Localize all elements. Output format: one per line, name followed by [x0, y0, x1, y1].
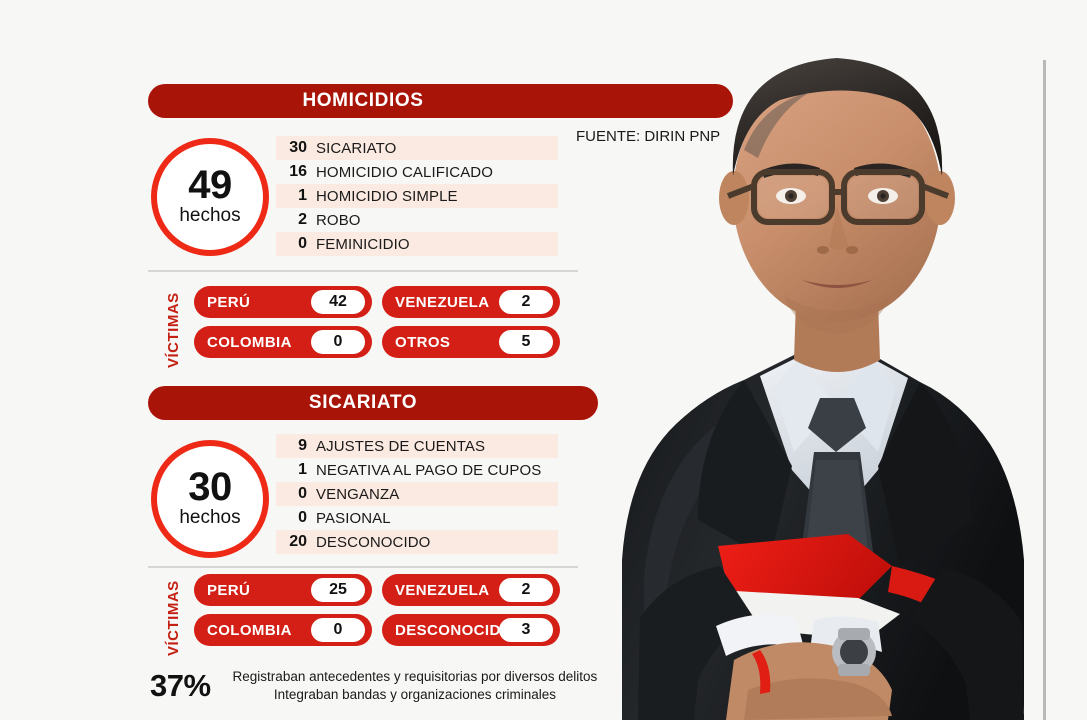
- nostril-left: [817, 246, 829, 254]
- victim-pill: PERÚ 42: [194, 286, 372, 318]
- breakdown-count: 9: [276, 437, 316, 455]
- footer-notes: Registraban antecedentes y requisitorias…: [233, 668, 598, 703]
- sash-tail-red: [888, 566, 1014, 706]
- presidential-sash-red: [718, 534, 892, 606]
- victim-country: VENEZUELA: [395, 582, 489, 599]
- necktie-knot: [808, 398, 866, 452]
- breakdown-row: 1 NEGATIVA AL PAGO DE CUPOS: [276, 458, 558, 482]
- breakdown-row: 20 DESCONOCIDO: [276, 530, 558, 554]
- section-divider: [148, 566, 578, 568]
- sash-medal: [972, 592, 1004, 624]
- infographic-root: HOMICIDIOS SICARIATO FUENTE: DIRIN PNP 4…: [0, 0, 1087, 720]
- breakdown-row: 1 HOMICIDIO SIMPLE: [276, 184, 558, 208]
- lens-left-glare: [758, 176, 828, 218]
- necktie-sheen: [806, 460, 868, 586]
- victims-label-text: VÍCTIMAS: [165, 580, 182, 656]
- victim-country: OTROS: [395, 334, 450, 351]
- footer-note-line: Integraban bandas y organizaciones crimi…: [233, 686, 598, 704]
- mouth: [802, 280, 872, 288]
- footer-percent: 37%: [150, 670, 211, 701]
- dress-shirt: [760, 356, 908, 520]
- breakdown-row: 9 AJUSTES DE CUENTAS: [276, 434, 558, 458]
- victim-pill: VENEZUELA 2: [382, 574, 560, 606]
- victim-count: 0: [311, 618, 365, 642]
- hand-lower: [744, 678, 892, 720]
- breakdown-count: 0: [276, 509, 316, 527]
- victim-country: COLOMBIA: [207, 622, 292, 639]
- breakdown-label: HOMICIDIO CALIFICADO: [316, 164, 493, 181]
- victim-pill: COLOMBIA 0: [194, 326, 372, 358]
- section-title-homicidios: HOMICIDIOS: [148, 84, 578, 118]
- victim-pill: PERÚ 25: [194, 574, 372, 606]
- victim-count: 2: [499, 290, 553, 314]
- arm-right: [910, 568, 1024, 720]
- breakdown-label: NEGATIVA AL PAGO DE CUPOS: [316, 462, 541, 479]
- victim-count: 2: [499, 578, 553, 602]
- breakdown-row: 16 HOMICIDIO CALIFICADO: [276, 160, 558, 184]
- arm-left: [638, 566, 754, 720]
- sash-tail-white: [992, 612, 1024, 716]
- section-header-bar-sicariato: SICARIATO: [148, 386, 598, 420]
- watch-band-top: [838, 628, 870, 640]
- victim-country: COLOMBIA: [207, 334, 292, 351]
- section-divider: [148, 270, 578, 272]
- nostril-right: [846, 246, 858, 254]
- face: [733, 70, 941, 322]
- breakdown-label: DESCONOCIDO: [316, 534, 430, 551]
- victim-pill: COLOMBIA 0: [194, 614, 372, 646]
- lapel-right: [878, 382, 972, 566]
- lens-right-glare: [848, 176, 918, 218]
- victim-country: PERÚ: [207, 294, 250, 311]
- shirt-cuff-left: [716, 614, 804, 656]
- victims-label-text: VÍCTIMAS: [165, 292, 182, 368]
- shirt-cuff-right: [810, 616, 882, 652]
- eye-right-sclera: [868, 188, 898, 204]
- victim-count: 25: [311, 578, 365, 602]
- eyebrow-right: [854, 163, 912, 178]
- victim-pill: DESCONOCIDO 3: [382, 614, 560, 646]
- hand-upper: [726, 642, 892, 720]
- total-count-homicidios: 49: [188, 166, 232, 204]
- chin-shadow: [784, 296, 890, 334]
- victims-pill-grid: PERÚ 25 VENEZUELA 2 COLOMBIA 0 DESCONOCI…: [194, 574, 560, 646]
- right-edge-rule: [1043, 60, 1046, 720]
- ear-left: [719, 171, 749, 225]
- eyebrow-left: [762, 163, 820, 178]
- hair-highlight: [744, 92, 810, 158]
- breakdown-count: 1: [276, 461, 316, 479]
- breakdown-label: SICARIATO: [316, 140, 396, 157]
- necktie-body: [800, 452, 874, 600]
- victims-vertical-label: VÍCTIMAS: [148, 574, 172, 656]
- eye-left-sclera: [776, 188, 806, 204]
- breakdown-label: VENGANZA: [316, 486, 399, 503]
- watch-band-bottom: [838, 664, 870, 676]
- breakdown-count: 16: [276, 163, 316, 181]
- breakdown-label: FEMINICIDIO: [316, 236, 410, 253]
- victim-count: 42: [311, 290, 365, 314]
- victim-pill: OTROS 5: [382, 326, 560, 358]
- victims-pill-grid: PERÚ 42 VENEZUELA 2 COLOMBIA 0 OTROS 5: [194, 286, 560, 358]
- breakdown-row: 30 SICARIATO: [276, 136, 558, 160]
- lapel-left: [698, 380, 792, 560]
- nose: [829, 206, 848, 250]
- neck: [794, 300, 880, 372]
- breakdown-row: 0 FEMINICIDIO: [276, 232, 558, 256]
- breakdown-label: PASIONAL: [316, 510, 391, 527]
- ear-right: [925, 171, 955, 225]
- wristwatch-case: [832, 630, 876, 674]
- victims-vertical-label: VÍCTIMAS: [148, 286, 172, 368]
- iris-right: [877, 190, 889, 202]
- victim-country: VENEZUELA: [395, 294, 489, 311]
- section-title-sicariato: SICARIATO: [148, 386, 578, 420]
- breakdown-row: 2 ROBO: [276, 208, 558, 232]
- breakdown-count: 1: [276, 187, 316, 205]
- total-unit-sicariato: hechos: [179, 507, 240, 530]
- breakdown-row: 0 PASIONAL: [276, 506, 558, 530]
- victim-count: 5: [499, 330, 553, 354]
- source-note: FUENTE: DIRIN PNP: [576, 128, 720, 145]
- pupil-left: [788, 193, 793, 198]
- footer-note-line: Registraban antecedentes y requisitorias…: [233, 668, 598, 686]
- victim-count: 3: [499, 618, 553, 642]
- pupil-right: [880, 193, 885, 198]
- presidential-sash-white: [718, 590, 900, 640]
- footer-stat: 37% Registraban antecedentes y requisito…: [150, 668, 597, 703]
- breakdown-label: ROBO: [316, 212, 361, 229]
- eyeglasses: [728, 172, 948, 222]
- red-bracelet: [752, 650, 770, 694]
- breakdown-count: 20: [276, 533, 316, 551]
- victim-country: PERÚ: [207, 582, 250, 599]
- total-unit-homicidios: hechos: [179, 205, 240, 228]
- breakdown-list-sicariato: 9 AJUSTES DE CUENTAS 1 NEGATIVA AL PAGO …: [276, 434, 558, 554]
- breakdown-row: 0 VENGANZA: [276, 482, 558, 506]
- breakdown-count: 0: [276, 485, 316, 503]
- victim-count: 0: [311, 330, 365, 354]
- suit-jacket: [622, 352, 1024, 720]
- section-header-bar-homicidios: HOMICIDIOS: [148, 84, 733, 118]
- hair: [733, 58, 942, 176]
- victim-pill: VENEZUELA 2: [382, 286, 560, 318]
- shirt-collar-right: [836, 358, 896, 452]
- breakdown-count: 30: [276, 139, 316, 157]
- total-circle-homicidios: 49 hechos: [151, 138, 269, 256]
- victims-block-sicariato: VÍCTIMAS PERÚ 25 VENEZUELA 2 COLOMBIA 0 …: [148, 574, 560, 646]
- breakdown-count: 2: [276, 211, 316, 229]
- breakdown-count: 0: [276, 235, 316, 253]
- iris-left: [785, 190, 797, 202]
- total-circle-sicariato: 30 hechos: [151, 440, 269, 558]
- wristwatch-dial: [840, 638, 868, 666]
- victims-block-homicidios: VÍCTIMAS PERÚ 42 VENEZUELA 2 COLOMBIA 0 …: [148, 286, 560, 358]
- victim-country: DESCONOCIDO: [395, 622, 513, 639]
- breakdown-label: AJUSTES DE CUENTAS: [316, 438, 485, 455]
- breakdown-list-homicidios: 30 SICARIATO 16 HOMICIDIO CALIFICADO 1 H…: [276, 136, 558, 256]
- total-count-sicariato: 30: [188, 468, 232, 506]
- breakdown-label: HOMICIDIO SIMPLE: [316, 188, 458, 205]
- shirt-collar-left: [774, 358, 836, 452]
- shoulder-highlight: [644, 404, 756, 720]
